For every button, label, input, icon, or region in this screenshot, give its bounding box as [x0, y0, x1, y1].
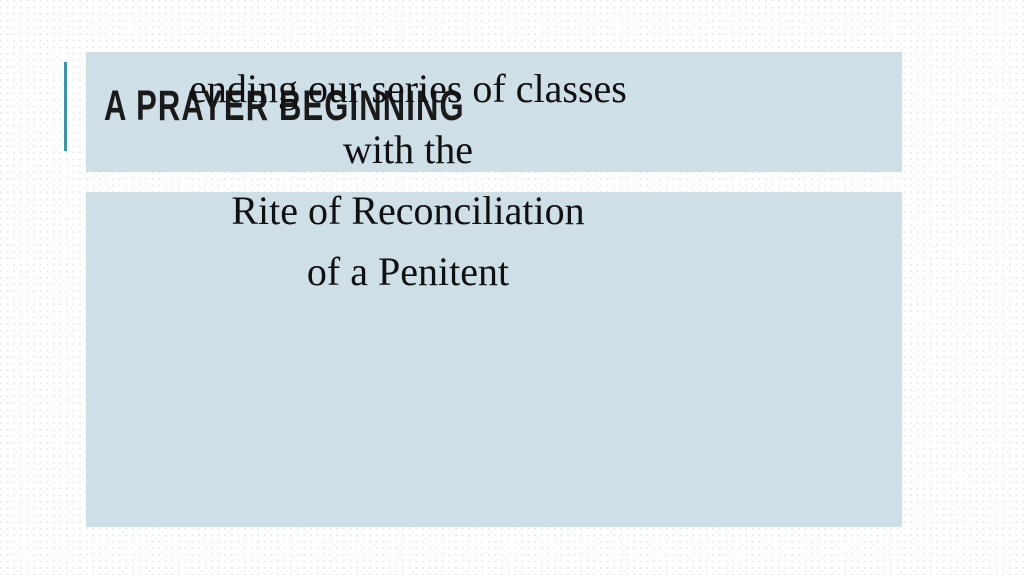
body-line: ending our series of classes: [0, 58, 816, 119]
presentation-slide: A PRAYER BEGINNING ending our series of …: [0, 0, 1024, 575]
body-line: Rite of Reconciliation: [0, 180, 816, 241]
body-text-block: ending our series of classes with the Ri…: [0, 58, 816, 302]
body-line: of a Penitent: [0, 241, 816, 302]
body-line: with the: [0, 119, 816, 180]
